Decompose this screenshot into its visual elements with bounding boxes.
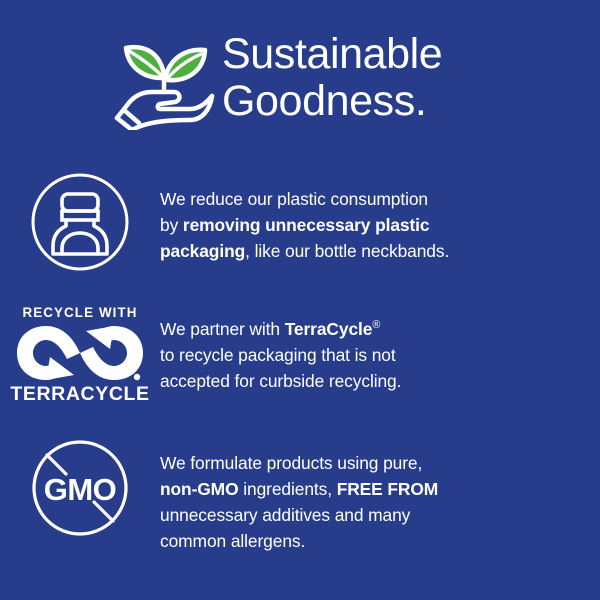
text-line: accepted for curbside recycling. [160,368,588,394]
infinity-arrows-icon [16,323,144,383]
feature-text-plastic: We reduce our plastic consumption by rem… [160,186,600,264]
terracycle-logo-top-text: RECYCLE WITH [22,305,137,320]
feature-icon-slot: RECYCLE WITH [0,316,160,405]
text-run-bold: TerraCycle [285,319,373,339]
text-run-bold: non-GMO [160,479,239,499]
text-line: common allergens. [160,528,588,554]
text-line: by removing unnecessary plastic [160,212,588,238]
text-line: We reduce our plastic consumption [160,186,588,212]
feature-row-plastic: We reduce our plastic consumption by rem… [0,186,600,272]
feature-row-terracycle: RECYCLE WITH [0,316,600,405]
text-run: common allergens. [160,531,305,551]
text-run: ingredients, [239,479,337,499]
header: Sustainable Goodness. [0,26,600,130]
no-gmo-circle-icon: GMO [30,438,130,538]
text-run-bold: packaging [160,241,245,261]
text-run: accepted for curbside recycling. [160,371,401,391]
text-run: We formulate products using pure, [160,453,422,473]
text-line: We formulate products using pure, [160,450,588,476]
text-run: to recycle packaging that is not [160,345,396,365]
terracycle-logo-icon: RECYCLE WITH [13,305,147,405]
text-line: packaging, like our bottle neckbands. [160,238,588,264]
title-line-1: Sustainable [222,31,442,78]
text-line: We partner with TerraCycle® [160,316,588,342]
text-run: , like our bottle neckbands. [245,241,449,261]
text-run: unnecessary additives and many [160,505,410,525]
feature-icon-slot [0,186,160,272]
title-line-2: Goodness. [222,78,442,125]
feature-text-terracycle: We partner with TerraCycle® to recycle p… [160,316,600,394]
text-run-bold: FREE FROM [337,479,439,499]
sustainable-goodness-infographic: Sustainable Goodness. [0,0,600,600]
text-line: non-GMO ingredients, FREE FROM [160,476,588,502]
feature-icon-slot: GMO [0,450,160,538]
hand-holding-sprout-icon [112,30,216,130]
text-run-bold: removing unnecessary plastic [183,215,430,235]
gmo-label: GMO [44,472,117,507]
text-run: by [160,215,183,235]
feature-text-gmo: We formulate products using pure, non-GM… [160,450,600,554]
text-line: to recycle packaging that is not [160,342,588,368]
text-run: We partner with [160,319,285,339]
registered-mark: ® [372,319,380,331]
feature-row-gmo: GMO We formulate products using pure, no… [0,450,600,554]
page-title: Sustainable Goodness. [222,26,442,125]
text-line: unnecessary additives and many [160,502,588,528]
text-run: We reduce our plastic consumption [160,189,428,209]
terracycle-logo-bottom-text: TERRACYCLE [10,384,149,405]
bottle-neckband-circle-icon [30,172,130,272]
